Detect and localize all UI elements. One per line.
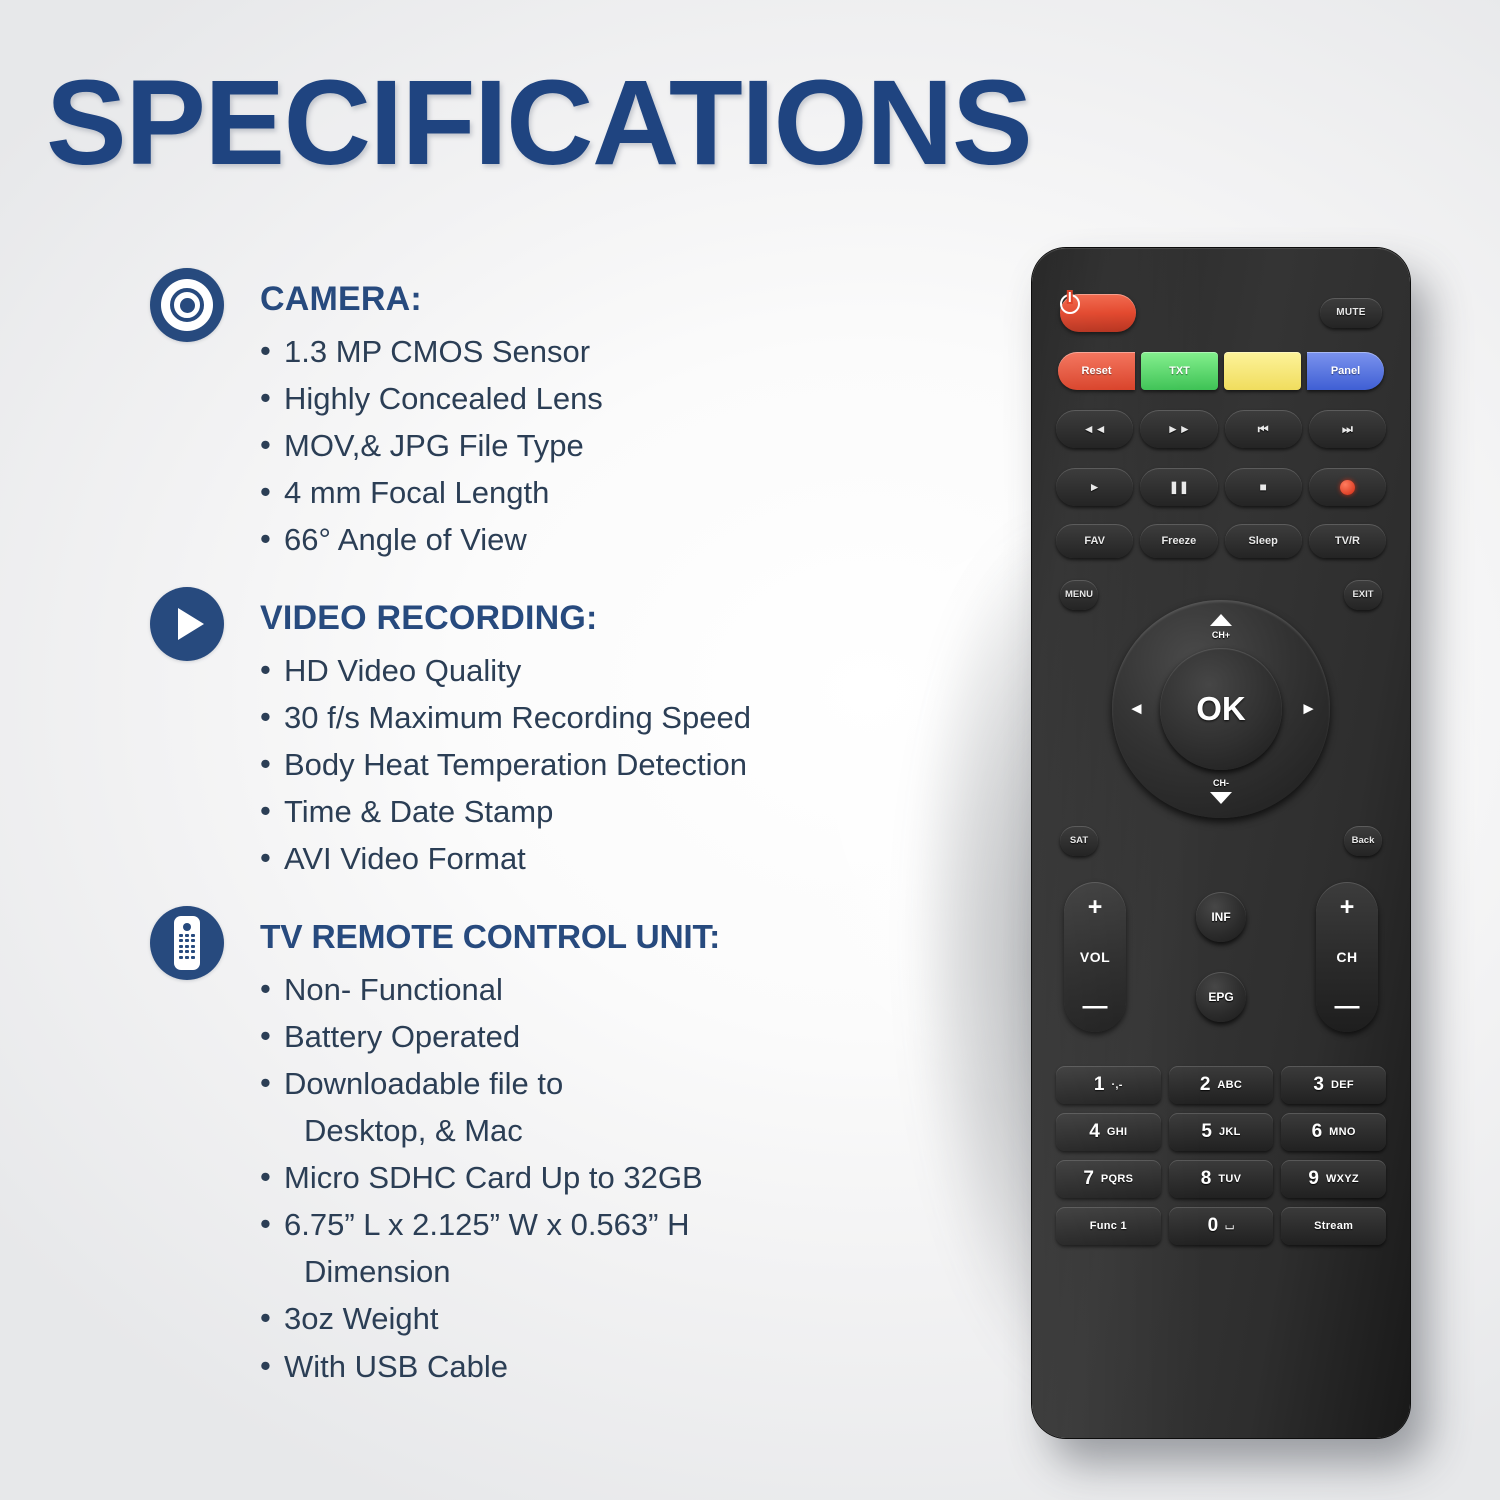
key-9-number: 9: [1308, 1168, 1319, 1190]
key-7[interactable]: 7PQRS: [1056, 1160, 1161, 1198]
record-button[interactable]: [1309, 468, 1386, 506]
page-title: SPECIFICATIONS: [46, 62, 1031, 183]
key-2[interactable]: 2ABC: [1169, 1066, 1274, 1104]
remote-transport-row-2: ► ❚❚ ■: [1054, 468, 1388, 506]
list-item: Battery Operated: [260, 1013, 940, 1060]
section-tv-remote: TV REMOTE CONTROL UNIT: Non- Functional …: [150, 906, 940, 1389]
volume-label: VOL: [1080, 949, 1110, 965]
sleep-button[interactable]: Sleep: [1225, 524, 1302, 558]
bullet-list-camera: 1.3 MP CMOS Sensor Highly Concealed Lens…: [260, 328, 940, 564]
remote-function-row: FAV Freeze Sleep TV/R: [1054, 524, 1388, 558]
key-6-number: 6: [1312, 1121, 1323, 1143]
key-4-sub: GHI: [1107, 1126, 1127, 1138]
key-9-sub: WXYZ: [1326, 1173, 1359, 1185]
key-6[interactable]: 6MNO: [1281, 1113, 1386, 1151]
key-3-sub: DEF: [1331, 1079, 1354, 1091]
fav-button[interactable]: FAV: [1056, 524, 1133, 558]
camera-lens-icon: [150, 268, 224, 342]
tv-remote-icon: [150, 906, 224, 980]
remote-top-row: MUTE: [1054, 294, 1388, 332]
stream-button[interactable]: Stream: [1281, 1207, 1386, 1245]
key-7-sub: PQRS: [1101, 1173, 1133, 1185]
list-item: AVI Video Format: [260, 835, 940, 882]
pause-button[interactable]: ❚❚: [1140, 468, 1217, 506]
mute-button[interactable]: MUTE: [1320, 298, 1382, 328]
tv-remote-product-image: MUTE Reset TXT Panel ◄◄ ►► ⏮ ⏭ ► ❚❚ ■: [1032, 248, 1410, 1438]
channel-label: CH: [1336, 949, 1357, 965]
section-camera: CAMERA: 1.3 MP CMOS Sensor Highly Concea…: [150, 268, 940, 563]
key-3[interactable]: 3DEF: [1281, 1066, 1386, 1104]
key-0-number: 0: [1208, 1215, 1219, 1237]
dpad-up-icon: [1210, 614, 1232, 626]
tv-radio-button[interactable]: TV/R: [1309, 524, 1386, 558]
stop-button[interactable]: ■: [1225, 468, 1302, 506]
key-8-number: 8: [1201, 1168, 1212, 1190]
key-2-sub: ABC: [1217, 1079, 1242, 1091]
next-track-button[interactable]: ⏭: [1309, 410, 1386, 448]
channel-up-label[interactable]: +: [1340, 895, 1355, 920]
remote-keypad: 1·,- 2ABC 3DEF 4GHI 5JKL 6MNO 7PQRS 8TUV…: [1054, 1066, 1388, 1245]
list-item: 4 mm Focal Length: [260, 469, 940, 516]
func1-label: Func 1: [1090, 1220, 1127, 1232]
fast-forward-button[interactable]: ►►: [1140, 410, 1217, 448]
key-1-number: 1: [1094, 1074, 1105, 1096]
key-6-sub: MNO: [1329, 1126, 1356, 1138]
remote-body: MUTE Reset TXT Panel ◄◄ ►► ⏮ ⏭ ► ❚❚ ■: [1032, 248, 1410, 1438]
ok-button[interactable]: OK: [1160, 648, 1282, 770]
previous-track-button[interactable]: ⏮: [1225, 410, 1302, 448]
key-5[interactable]: 5JKL: [1169, 1113, 1274, 1151]
bullet-list-video: HD Video Quality 30 f/s Maximum Recordin…: [260, 647, 940, 883]
section-video-recording: VIDEO RECORDING: HD Video Quality 30 f/s…: [150, 587, 940, 882]
info-epg-group: INF EPG: [1196, 892, 1246, 1022]
freeze-button[interactable]: Freeze: [1140, 524, 1217, 558]
bullet-list-remote: Non- Functional Battery Operated Downloa…: [260, 966, 940, 1390]
key-9[interactable]: 9WXYZ: [1281, 1160, 1386, 1198]
list-item: Micro SDHC Card Up to 32GB: [260, 1154, 940, 1201]
remote-color-row: Reset TXT Panel: [1054, 352, 1388, 390]
key-0[interactable]: 0⌴: [1169, 1207, 1274, 1245]
remote-dpad-area: CH+ CH- ◄ ► OK: [1054, 600, 1388, 832]
dpad-down-icon: [1210, 792, 1232, 804]
key-0-sub: ⌴: [1225, 1220, 1234, 1233]
list-item: Non- Functional: [260, 966, 940, 1013]
play-circle-icon: [150, 587, 224, 661]
remote-transport-row-1: ◄◄ ►► ⏮ ⏭: [1054, 410, 1388, 448]
list-item: Body Heat Temperation Detection: [260, 741, 940, 788]
dpad-down-label: CH-: [1213, 778, 1229, 788]
key-2-number: 2: [1200, 1074, 1211, 1096]
txt-button[interactable]: TXT: [1141, 352, 1218, 390]
volume-rocker[interactable]: + VOL —: [1064, 882, 1126, 1032]
volume-up-label[interactable]: +: [1088, 895, 1103, 920]
section-heading-video: VIDEO RECORDING:: [260, 587, 940, 637]
section-heading-camera: CAMERA:: [260, 268, 940, 318]
remote-volume-channel-row: + VOL — INF EPG + CH —: [1054, 882, 1388, 1032]
sat-button[interactable]: SAT: [1060, 826, 1098, 856]
reset-button[interactable]: Reset: [1058, 352, 1135, 390]
rewind-button[interactable]: ◄◄: [1056, 410, 1133, 448]
list-item: 30 f/s Maximum Recording Speed: [260, 694, 940, 741]
list-item-continuation: Desktop, & Mac: [260, 1107, 940, 1154]
dpad-up-label: CH+: [1212, 630, 1230, 640]
key-4-number: 4: [1089, 1121, 1100, 1143]
key-5-sub: JKL: [1219, 1126, 1241, 1138]
back-button[interactable]: Back: [1344, 826, 1382, 856]
key-8[interactable]: 8TUV: [1169, 1160, 1274, 1198]
list-item: 3oz Weight: [260, 1295, 940, 1342]
volume-down-label[interactable]: —: [1083, 994, 1108, 1019]
play-button[interactable]: ►: [1056, 468, 1133, 506]
channel-rocker[interactable]: + CH —: [1316, 882, 1378, 1032]
list-item: 6.75” L x 2.125” W x 0.563” H: [260, 1201, 940, 1248]
specifications-page: SPECIFICATIONS CAMERA: 1.3 MP CMOS Senso…: [0, 0, 1500, 1500]
dpad-left-icon[interactable]: ◄: [1128, 699, 1142, 719]
spec-sections: CAMERA: 1.3 MP CMOS Sensor Highly Concea…: [150, 268, 940, 1414]
list-item-continuation: Dimension: [260, 1248, 940, 1295]
channel-down-label[interactable]: —: [1335, 994, 1360, 1019]
key-8-sub: TUV: [1218, 1173, 1241, 1185]
list-item: Downloadable file to: [260, 1060, 940, 1107]
key-5-number: 5: [1201, 1121, 1212, 1143]
section-heading-remote: TV REMOTE CONTROL UNIT:: [260, 906, 940, 955]
stream-label: Stream: [1314, 1220, 1353, 1232]
func1-button[interactable]: Func 1: [1056, 1207, 1161, 1245]
panel-button[interactable]: Panel: [1307, 352, 1384, 390]
key-3-number: 3: [1313, 1074, 1324, 1096]
key-1-sub: ·,-: [1111, 1079, 1122, 1091]
key-7-number: 7: [1083, 1168, 1094, 1190]
key-1[interactable]: 1·,-: [1056, 1066, 1161, 1104]
power-button[interactable]: [1060, 294, 1136, 332]
info-button[interactable]: INF: [1196, 892, 1246, 942]
yellow-button[interactable]: [1224, 352, 1301, 390]
list-item: Highly Concealed Lens: [260, 375, 940, 422]
dpad-right-icon[interactable]: ►: [1300, 699, 1314, 719]
key-4[interactable]: 4GHI: [1056, 1113, 1161, 1151]
list-item: Time & Date Stamp: [260, 788, 940, 835]
list-item: 1.3 MP CMOS Sensor: [260, 328, 940, 375]
list-item: HD Video Quality: [260, 647, 940, 694]
list-item: 66° Angle of View: [260, 516, 940, 563]
list-item: With USB Cable: [260, 1343, 940, 1390]
dpad-ring[interactable]: CH+ CH- ◄ ► OK: [1112, 600, 1330, 818]
list-item: MOV,& JPG File Type: [260, 422, 940, 469]
epg-button[interactable]: EPG: [1196, 972, 1246, 1022]
